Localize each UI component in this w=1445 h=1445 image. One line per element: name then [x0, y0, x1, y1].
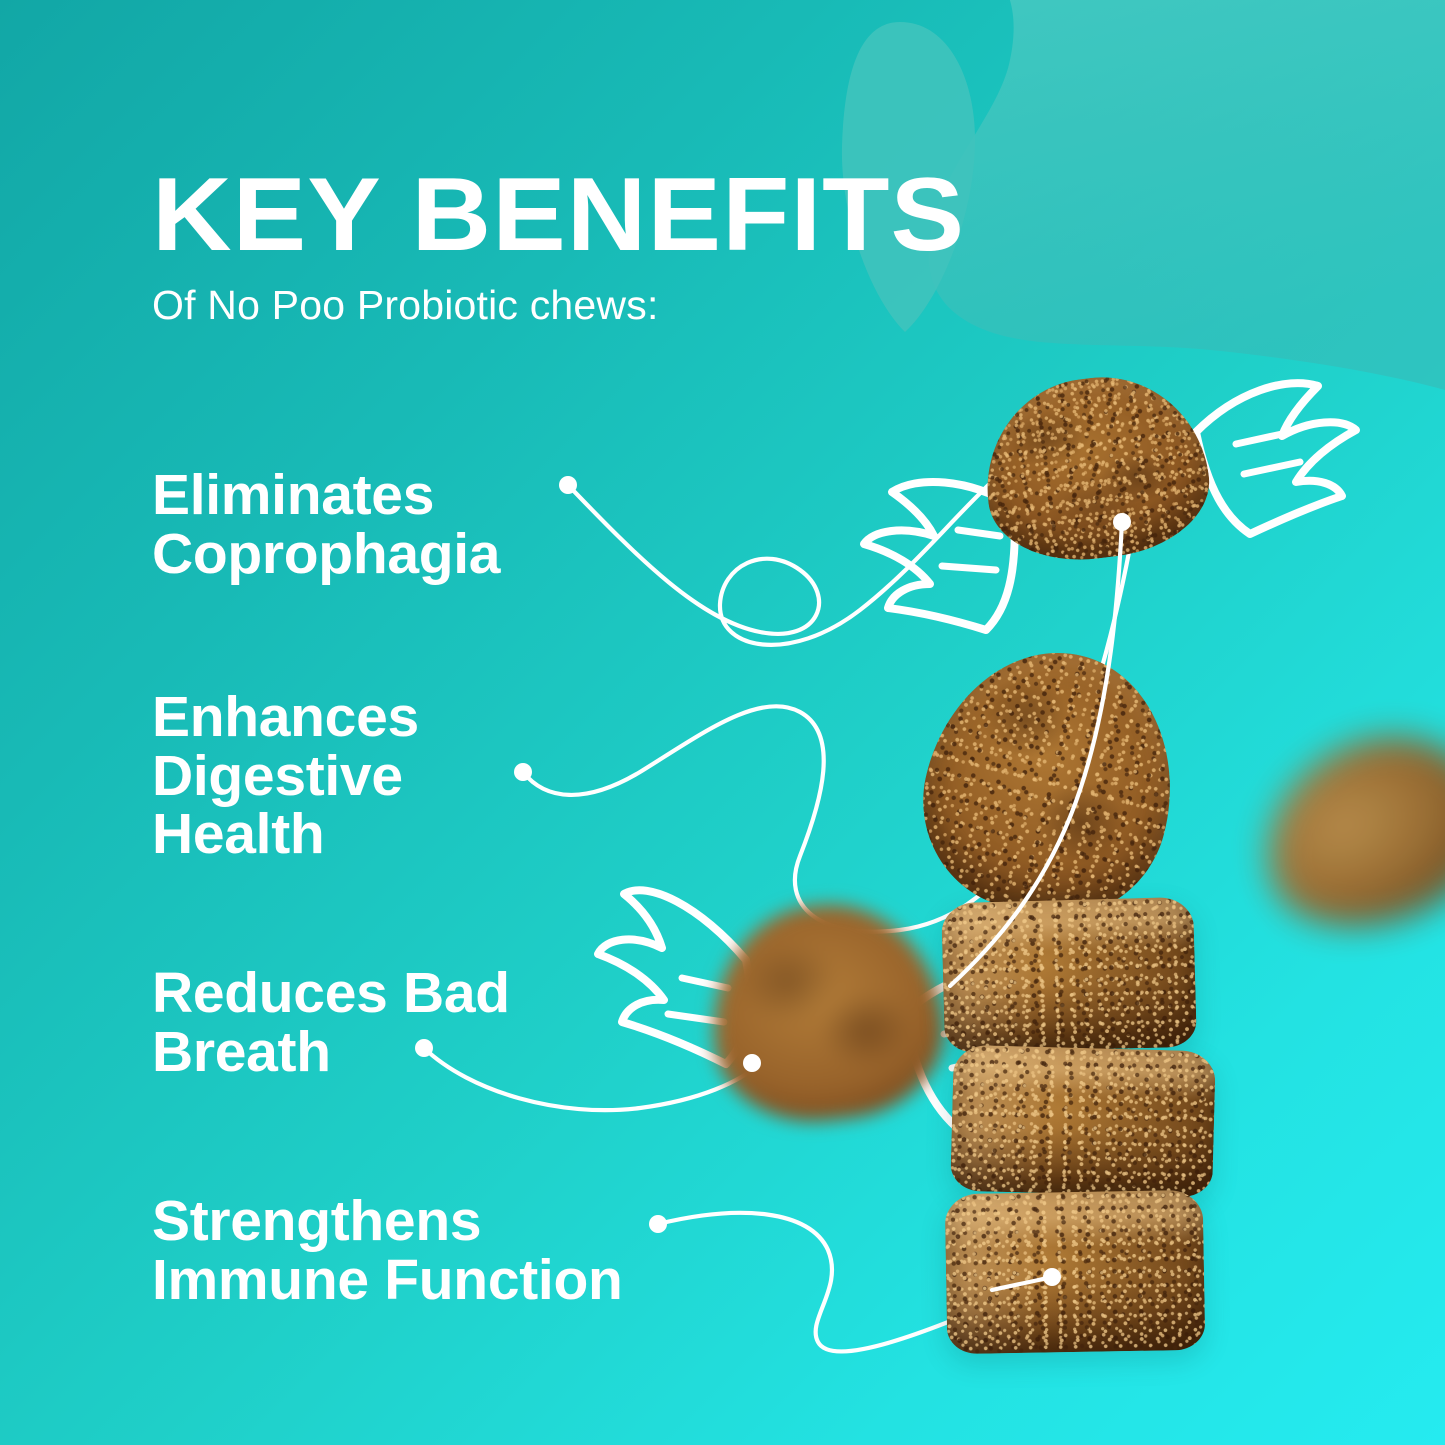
connector-dot-1: [559, 476, 577, 494]
benefit-label-enhances-digestive-health: Enhances Digestive Health: [152, 688, 419, 864]
benefit-label-eliminates-coprophagia: Eliminates Coprophagia: [152, 466, 500, 583]
page-title: KEY BENEFITS: [152, 166, 965, 265]
connector-dot-4: [649, 1215, 667, 1233]
flying-treat-top: [975, 365, 1217, 571]
flying-treat-left-blurred: [701, 894, 952, 1132]
benefit-label-reduces-bad-breath: Reduces Bad Breath: [152, 964, 510, 1081]
stack-treat-2: [950, 1045, 1216, 1198]
key-benefits-graphic: KEY BENEFITS Of No Poo Probiotic chews: …: [0, 0, 1445, 1445]
benefit-label-strengthens-immune-function: Strengthens Immune Function: [152, 1192, 622, 1309]
background-treat-right-blurred: [1237, 705, 1445, 958]
page-subtitle: Of No Poo Probiotic chews:: [152, 283, 659, 328]
stack-treat-upper: [900, 626, 1201, 939]
connector-dot-2: [514, 763, 532, 781]
stack-treat-3: [945, 1190, 1206, 1354]
stack-treat-1: [941, 897, 1197, 1054]
